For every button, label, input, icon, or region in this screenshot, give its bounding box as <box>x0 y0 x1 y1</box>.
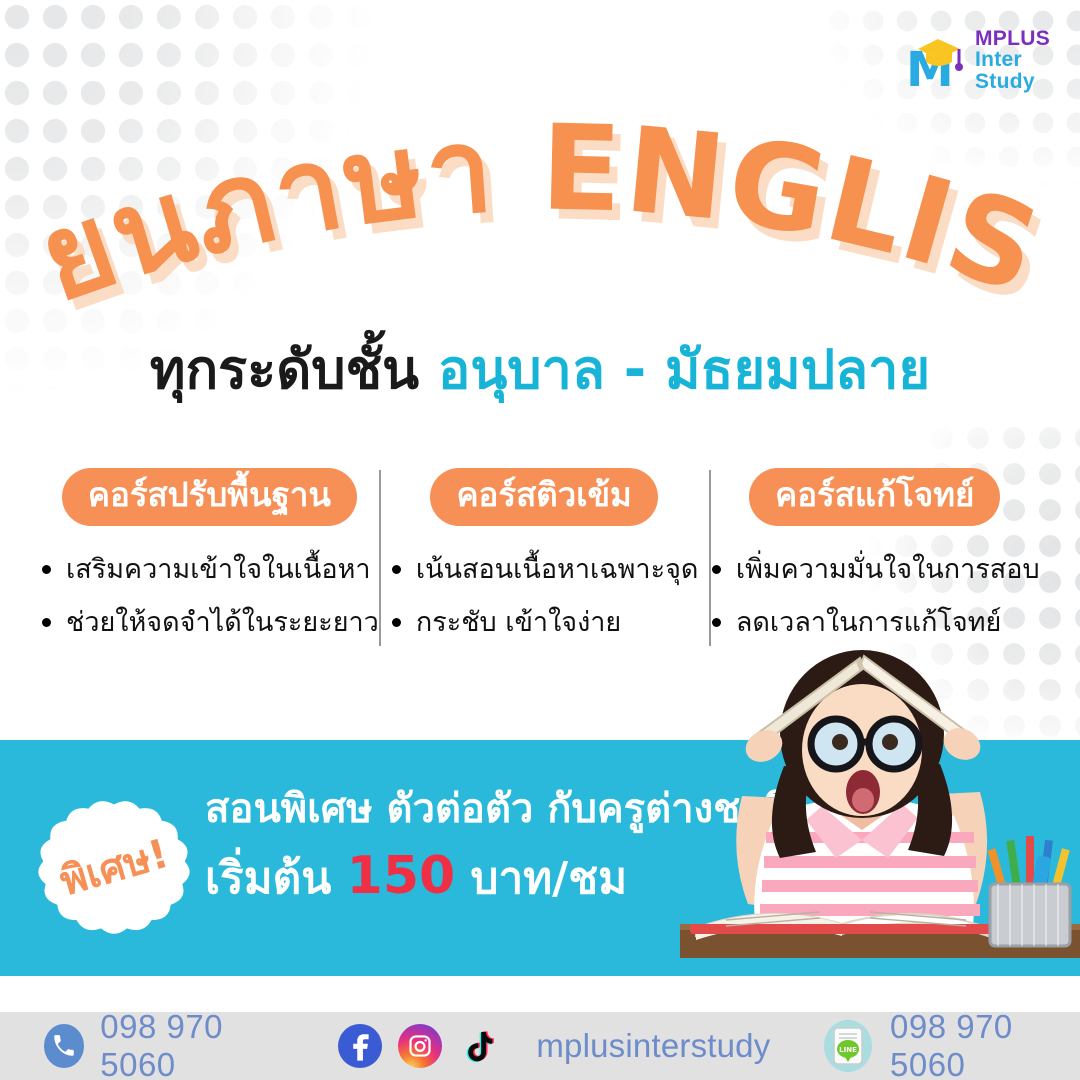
footer-line-number: 098 970 5060 <box>890 1008 1080 1080</box>
headline-text: เรียนภาษา ENGLISH <box>0 0 1057 328</box>
special-offer-starburst: พิเศษ! <box>28 792 200 942</box>
graduation-cap-m-icon: M <box>908 29 966 91</box>
promo-price-suffix: บาท/ชม <box>471 853 628 904</box>
list-item: ลดเวลาในการแก้โจทย์ <box>710 603 1040 644</box>
list-item: ช่วยให้จดจำได้ในระยะยาว <box>40 603 379 644</box>
course-column-problem-solving: คอร์สแก้โจทย์ เพิ่มความมั่นใจในการสอบ ลด… <box>709 468 1040 671</box>
list-item: กระชับ เข้าใจง่าย <box>390 603 699 644</box>
course-benefits-problem-solving: เพิ่มความมั่นใจในการสอบ ลดเวลาในการแก้โจ… <box>710 550 1040 655</box>
promo-price-value: 150 <box>347 846 456 906</box>
course-badge-problem-solving[interactable]: คอร์สแก้โจทย์ <box>749 468 1000 526</box>
list-item: เน้นสอนเนื้อหาเฉพาะจุด <box>390 550 699 591</box>
instagram-icon[interactable] <box>398 1024 442 1068</box>
brand-logo: M MPLUS Inter Study <box>908 28 1050 92</box>
footer-line-contact[interactable]: LINE 098 970 5060 <box>824 1008 1080 1080</box>
poster-canvas: M MPLUS Inter Study เรียนภาษา ENGLISH เร <box>0 0 1080 1080</box>
page-title: เรียนภาษา ENGLISH เรียนภาษา ENGLISH <box>0 96 1080 311</box>
contact-footer: 098 970 5060 <box>0 1012 1080 1080</box>
course-column-intensive: คอร์สติวเข้ม เน้นสอนเนื้อหาเฉพาะจุด กระช… <box>379 468 710 671</box>
course-list: คอร์สปรับพื้นฐาน เสริมความเข้าใจในเนื้อห… <box>40 468 1040 671</box>
line-icon-label: LINE <box>839 1046 857 1054</box>
phone-icon <box>44 1024 84 1068</box>
list-item: เสริมความเข้าใจในเนื้อหา <box>40 550 379 591</box>
subtitle-highlight: อนุบาล - มัธยมปลาย <box>438 338 930 401</box>
logo-line-2: Inter <box>975 49 1050 70</box>
tiktok-icon[interactable] <box>458 1024 502 1068</box>
subtitle: ทุกระดับชั้น อนุบาล - มัธยมปลาย <box>0 326 1080 412</box>
promo-price-prefix: เริ่มต้น <box>205 853 331 904</box>
footer-social-handle: mplusinterstudy <box>536 1027 770 1065</box>
footer-social-icons: mplusinterstudy <box>338 1024 770 1068</box>
footer-phone-number: 098 970 5060 <box>100 1008 290 1080</box>
logo-line-3: Study <box>975 71 1050 92</box>
logo-line-1: MPLUS <box>975 28 1050 49</box>
brand-wordmark: MPLUS Inter Study <box>975 28 1050 92</box>
course-benefits-intensive: เน้นสอนเนื้อหาเฉพาะจุด กระชับ เข้าใจง่าย <box>390 550 699 655</box>
subtitle-prefix: ทุกระดับชั้น <box>150 338 419 401</box>
list-item: เพิ่มความมั่นใจในการสอบ <box>710 550 1040 591</box>
student-photo <box>680 646 1080 976</box>
course-badge-foundation[interactable]: คอร์สปรับพื้นฐาน <box>62 468 357 526</box>
course-badge-intensive[interactable]: คอร์สติวเข้ม <box>430 468 657 526</box>
course-column-foundation: คอร์สปรับพื้นฐาน เสริมความเข้าใจในเนื้อห… <box>40 468 379 671</box>
course-benefits-foundation: เสริมความเข้าใจในเนื้อหา ช่วยให้จดจำได้ใ… <box>40 550 379 655</box>
facebook-icon[interactable] <box>338 1024 382 1068</box>
line-icon[interactable]: LINE <box>824 1020 872 1072</box>
footer-phone[interactable]: 098 970 5060 <box>44 1008 290 1080</box>
